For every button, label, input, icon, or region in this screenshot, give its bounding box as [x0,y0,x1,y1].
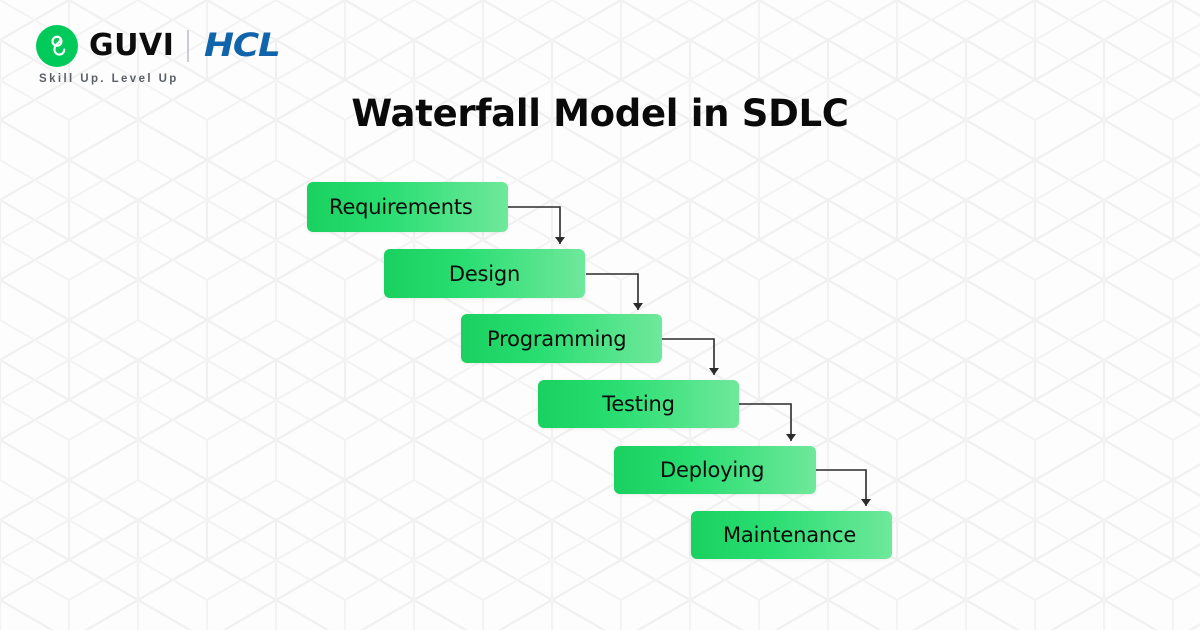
connector-testing-to-deploying [739,404,796,441]
stage-label: Testing [602,392,674,416]
stage-label: Deploying [660,458,764,482]
poster-canvas: GUVI HCL Skill Up. Level Up Waterfall Mo… [0,0,1200,630]
page-title: Waterfall Model in SDLC [0,92,1200,135]
brand-logo-row: GUVI HCL [36,25,272,67]
connector-deploying-to-maintenance [816,470,871,506]
hcl-wordmark: HCL [204,29,280,61]
stage-label: Programming [487,327,626,351]
brand-divider [187,30,189,62]
stage-label: Requirements [329,195,473,219]
stage-box-deploying[interactable]: Deploying [614,446,816,494]
stage-box-design[interactable]: Design [384,249,585,298]
stage-box-programming[interactable]: Programming [461,314,662,363]
stage-box-maintenance[interactable]: Maintenance [691,511,892,559]
guvi-wordmark: GUVI [89,31,174,61]
stage-label: Design [449,262,520,286]
stage-label: Maintenance [723,523,856,547]
connector-programming-to-testing [662,339,719,375]
stage-box-testing[interactable]: Testing [538,380,739,428]
connector-design-to-programming [586,274,643,310]
connector-requirements-to-design [508,207,565,244]
brand-tagline: Skill Up. Level Up [39,73,272,85]
stage-box-requirements[interactable]: Requirements [307,182,508,232]
brand-lockup: GUVI HCL Skill Up. Level Up [36,25,272,85]
guvi-g-icon [36,25,78,67]
